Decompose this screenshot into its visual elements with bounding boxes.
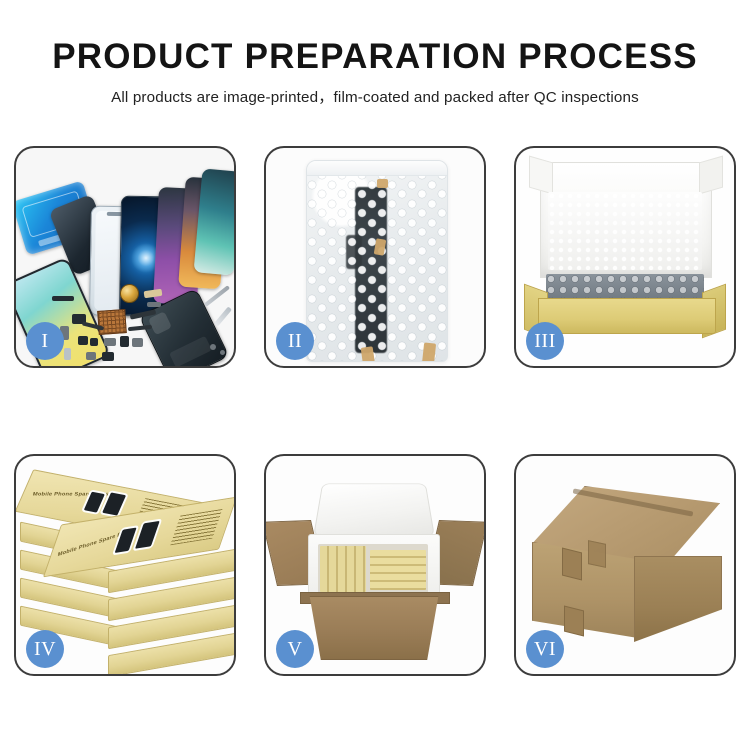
process-step-grid: I II: [14, 146, 736, 676]
step-card-5: V: [264, 454, 486, 676]
step-badge-3: III: [526, 322, 564, 360]
carton-tape: [588, 540, 606, 568]
step-card-1: I: [14, 146, 236, 368]
box-label-spec-lines: [170, 509, 222, 545]
screwdriver-tool: [214, 306, 232, 326]
header: PRODUCT PREPARATION PROCESS All products…: [0, 0, 750, 107]
bubble-wrap-bag: [306, 160, 448, 362]
spare-part: [52, 296, 74, 301]
carton-tape: [562, 548, 582, 581]
page-subtitle: All products are image-printed，film-coat…: [0, 85, 750, 107]
spare-part: [132, 338, 143, 347]
step-card-6: VI: [514, 454, 736, 676]
spare-part: [120, 336, 129, 347]
step-card-2: II: [264, 146, 486, 368]
tape-strip: [422, 342, 436, 362]
logic-board-chip: [97, 309, 127, 335]
packed-boxes-left: [320, 546, 366, 592]
spare-part: [64, 348, 71, 360]
box-label-image: [135, 521, 160, 549]
foam-sheet: [548, 192, 702, 270]
bubble-texture: [307, 161, 447, 361]
carton-front-panel: [304, 596, 444, 660]
packed-boxes-area: [318, 544, 428, 594]
step-card-3: III: [514, 146, 736, 368]
step-badge-1: I: [26, 322, 64, 360]
styrofoam-lid: [313, 483, 435, 536]
tape-strip: [377, 179, 388, 188]
box-front-panel: [538, 298, 716, 334]
product-preparation-infographic: PRODUCT PREPARATION PROCESS All products…: [0, 0, 750, 750]
step-badge-6: VI: [526, 630, 564, 668]
step-badge-2: II: [276, 322, 314, 360]
carton-tape: [564, 606, 584, 637]
step-badge-5: V: [276, 630, 314, 668]
step-badge-4: IV: [26, 630, 64, 668]
spare-part: [86, 352, 96, 360]
carton-right-face: [634, 556, 722, 642]
spare-part: [147, 302, 161, 307]
screw-part: [210, 344, 216, 350]
step-card-4: Mobile Phone Spare Parts Mobile Phone Sp…: [14, 454, 236, 676]
spare-part: [104, 338, 116, 346]
bag-seal: [307, 161, 447, 176]
spare-part: [102, 352, 114, 361]
packed-boxes-right: [370, 550, 426, 590]
camera-lens-part: [120, 284, 139, 303]
spare-part: [90, 338, 98, 346]
page-title: PRODUCT PREPARATION PROCESS: [0, 38, 750, 76]
screw-part: [220, 350, 225, 355]
box-label-image: [115, 528, 137, 553]
spare-part: [78, 336, 88, 345]
